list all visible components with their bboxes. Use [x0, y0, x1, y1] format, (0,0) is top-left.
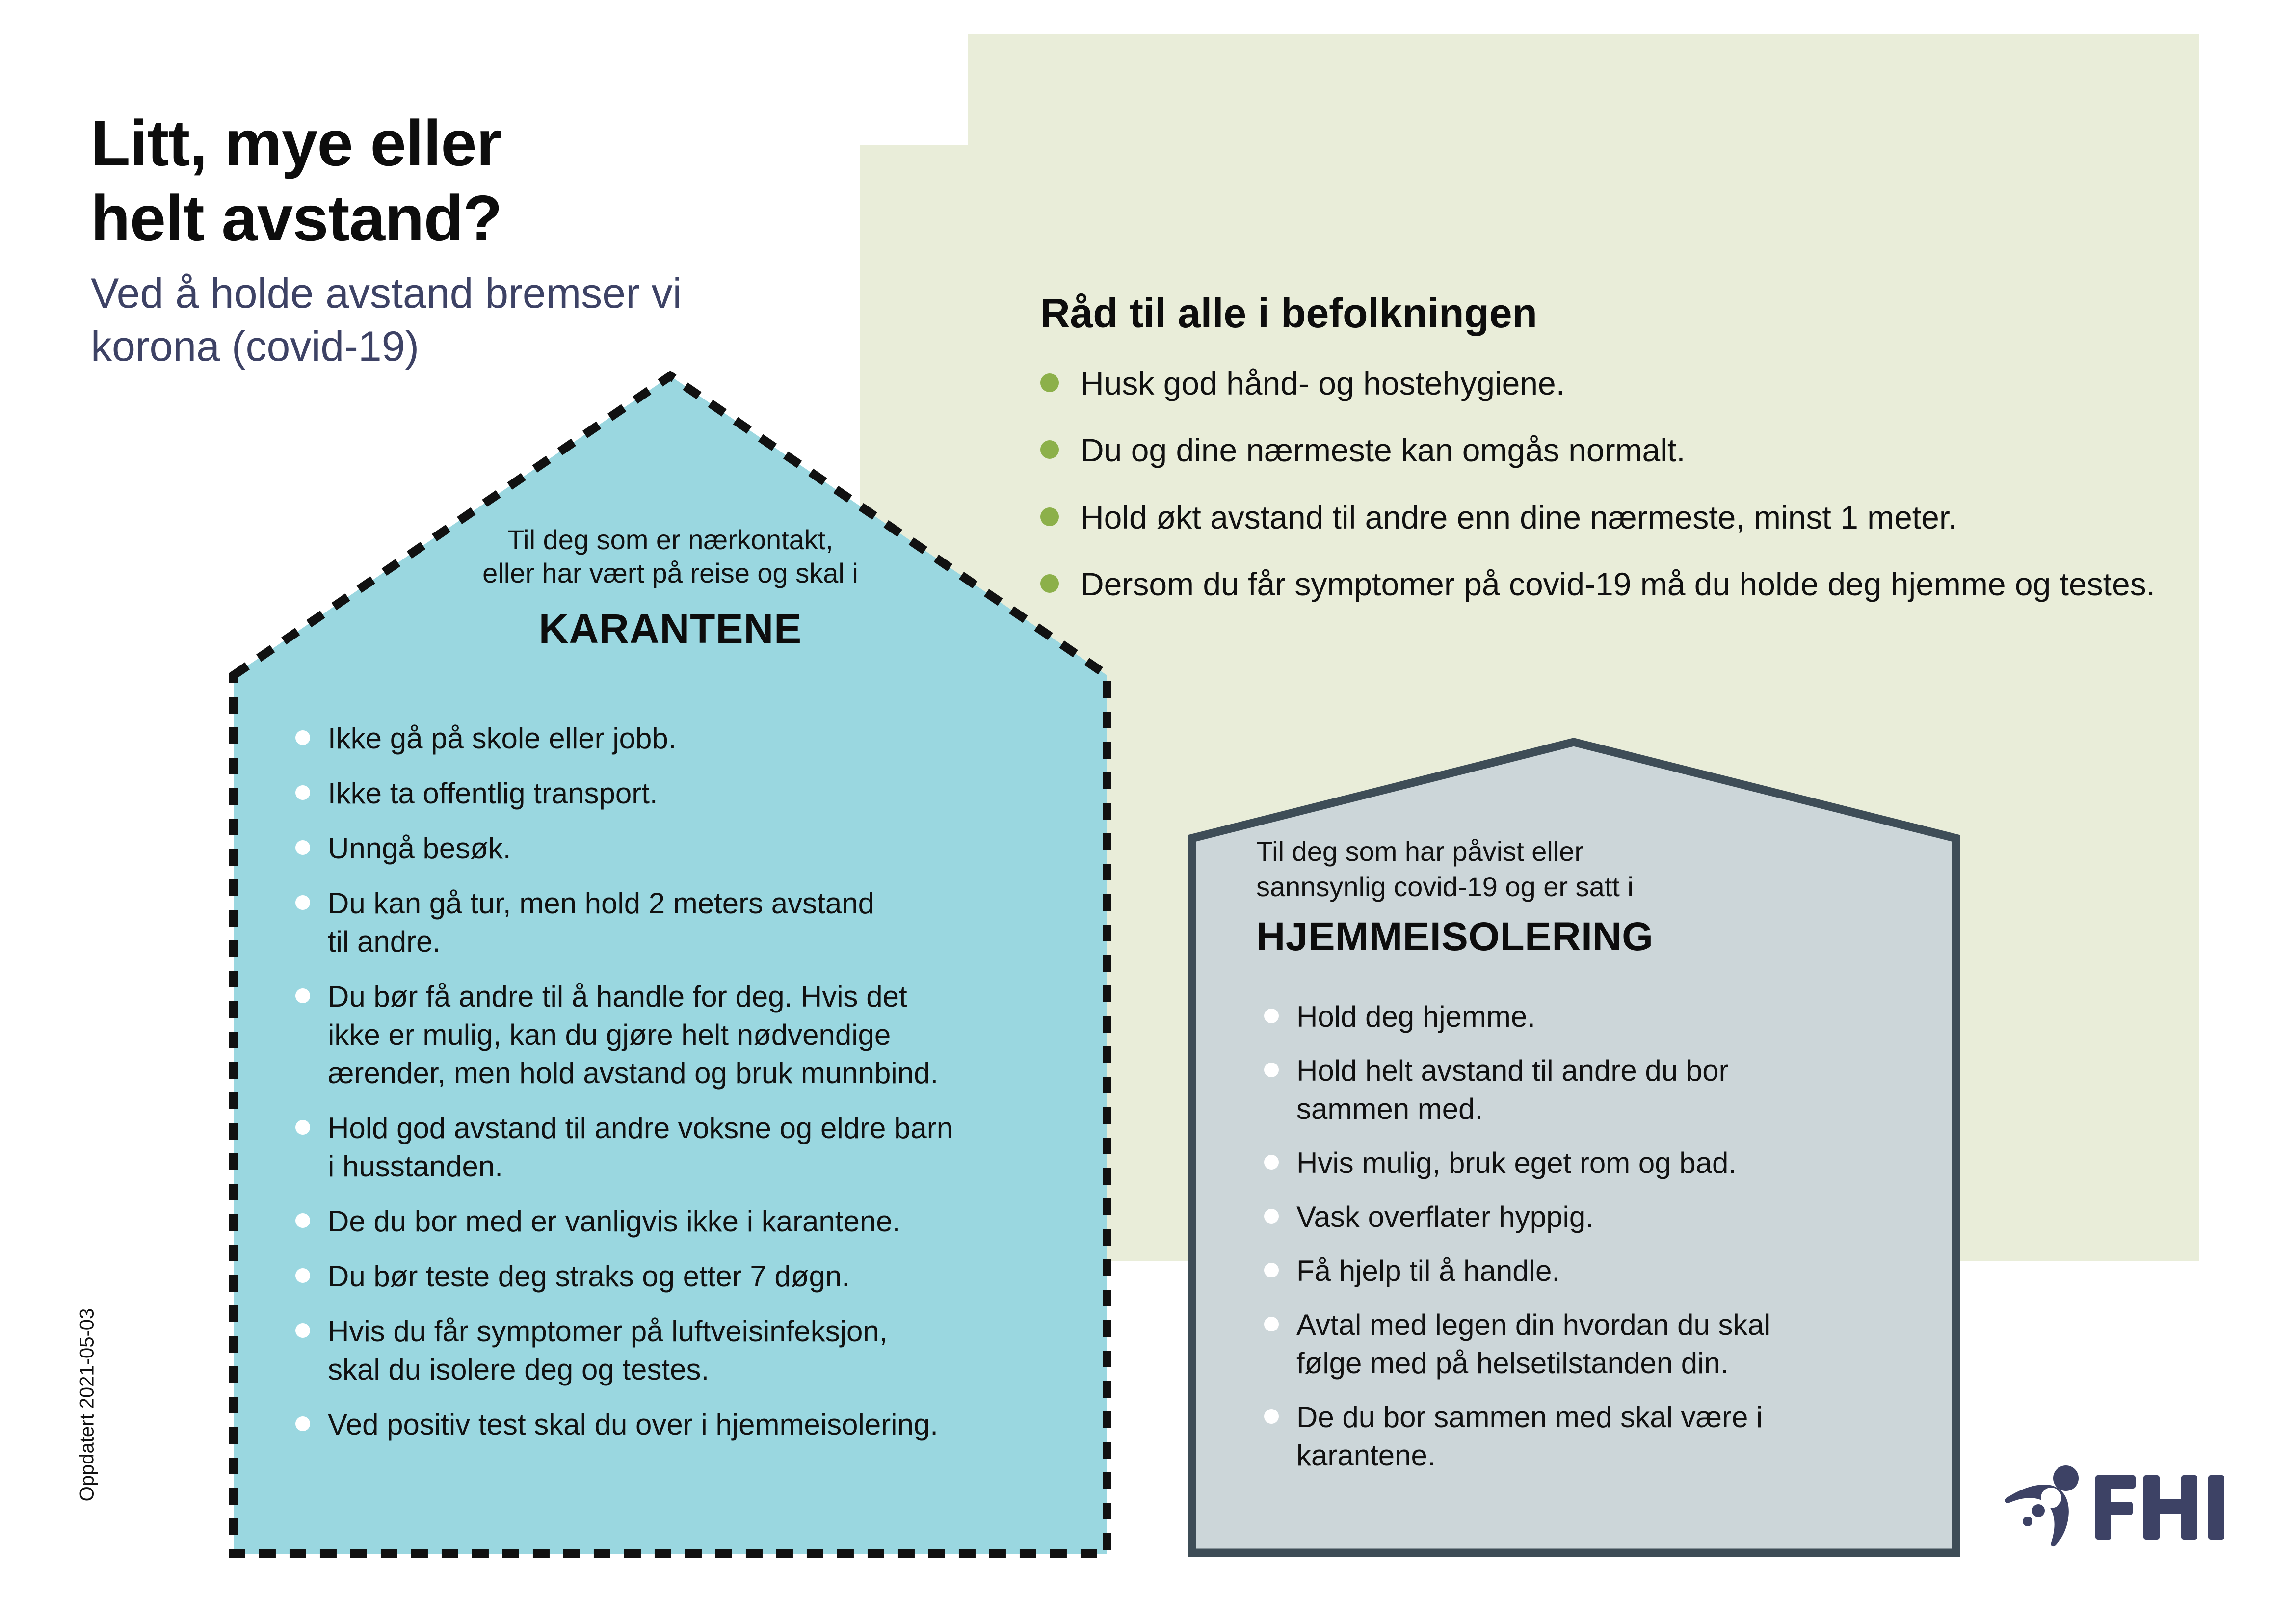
list-item: Hvis mulig, bruk eget rom og bad.: [1251, 1144, 1909, 1182]
fhi-logo: [2005, 1458, 2250, 1556]
quarantine-item-text: Du kan gå tur, men hold 2 meters avstand…: [328, 887, 874, 958]
page-subtitle: Ved å holde avstand bremser vi korona (c…: [91, 267, 827, 373]
quarantine-item-text: Hvis du får symptomer på luftveisinfeksj…: [328, 1315, 887, 1386]
list-item: Ikke gå på skole eller jobb.: [283, 719, 1078, 758]
list-item: Hold helt avstand til andre du bor samme…: [1251, 1052, 1909, 1128]
bullet-dot-icon: [295, 785, 310, 800]
quarantine-item-text: Ikke ta offentlig transport.: [328, 777, 658, 810]
fhi-wordmark: [2095, 1475, 2224, 1540]
quarantine-content: Til deg som er nærkontakt, eller har vær…: [229, 371, 1112, 1559]
quarantine-title: KARANTENE: [229, 605, 1112, 653]
updated-date-label: Oppdatert 2021-05-03: [77, 1248, 99, 1562]
isolation-title: HJEMMEISOLERING: [1256, 914, 1894, 960]
list-item: Unngå besøk.: [283, 829, 1078, 868]
quarantine-item-text: Unngå besøk.: [328, 832, 511, 865]
isolation-item-text: Vask overflater hyppig.: [1296, 1200, 1594, 1233]
bullet-dot-icon: [295, 988, 310, 1003]
list-item: Hvis du får symptomer på luftveisinfeksj…: [283, 1312, 1078, 1389]
advice-item-text: Du og dine nærmeste kan omgås normalt.: [1081, 432, 1686, 468]
isolation-item-text: Hold deg hjemme.: [1296, 1000, 1535, 1033]
quarantine-item-text: De du bor med er vanligvis ikke i karant…: [328, 1205, 900, 1238]
list-item: Du og dine nærmeste kan omgås normalt.: [1040, 429, 2184, 471]
quarantine-item-text: Ved positiv test skal du over i hjemmeis…: [328, 1408, 938, 1441]
list-item: Du kan gå tur, men hold 2 meters avstand…: [283, 884, 1078, 961]
list-item: Du bør få andre til å handle for deg. Hv…: [283, 978, 1078, 1092]
page-title: Litt, mye eller helt avstand?: [91, 106, 827, 256]
list-item: Husk god hånd- og hostehygiene.: [1040, 363, 2184, 404]
bullet-dot-icon: [1264, 1009, 1279, 1023]
bullet-dot-icon: [295, 730, 310, 745]
bullet-dot-icon: [1264, 1155, 1279, 1170]
list-item: Vask overflater hyppig.: [1251, 1198, 1909, 1236]
list-item: De du bor med er vanligvis ikke i karant…: [283, 1202, 1078, 1241]
isolation-item-text: De du bor sammen med skal være i karante…: [1296, 1401, 1763, 1472]
quarantine-header: Til deg som er nærkontakt, eller har vær…: [229, 523, 1112, 653]
bullet-dot-icon: [1264, 1409, 1279, 1424]
bullet-dot-icon: [295, 1120, 310, 1135]
quarantine-item-text: Du bør teste deg straks og etter 7 døgn.: [328, 1260, 850, 1293]
quarantine-item-text: Du bør få andre til å handle for deg. Hv…: [328, 980, 938, 1090]
isolation-item-text: Få hjelp til å handle.: [1296, 1254, 1560, 1287]
advice-item-text: Dersom du får symptomer på covid-19 må d…: [1081, 566, 2155, 602]
list-item: Du bør teste deg straks og etter 7 døgn.: [283, 1257, 1078, 1296]
fhi-figure-icon: [2005, 1465, 2079, 1546]
list-item: Hold god avstand til andre voksne og eld…: [283, 1109, 1078, 1186]
poster-header: Litt, mye eller helt avstand? Ved å hold…: [91, 106, 827, 373]
list-item: De du bor sammen med skal være i karante…: [1251, 1398, 1909, 1475]
bullet-dot-icon: [295, 1416, 310, 1431]
list-item: Hold deg hjemme.: [1251, 998, 1909, 1036]
advice-list: Husk god hånd- og hostehygiene. Du og di…: [1040, 363, 2184, 605]
list-item: Hold økt avstand til andre enn dine nærm…: [1040, 497, 2184, 538]
quarantine-house-card: Til deg som er nærkontakt, eller har vær…: [229, 371, 1112, 1559]
bullet-dot-icon: [1264, 1063, 1279, 1077]
bullet-dot-icon: [295, 1323, 310, 1338]
isolation-list: Hold deg hjemme. Hold helt avstand til a…: [1251, 998, 1909, 1490]
isolation-item-text: Avtal med legen din hvordan du skal følg…: [1296, 1308, 1770, 1380]
advice-item-text: Husk god hånd- og hostehygiene.: [1081, 365, 1565, 401]
list-item: Dersom du får symptomer på covid-19 må d…: [1040, 563, 2184, 605]
advice-item-text: Hold økt avstand til andre enn dine nærm…: [1081, 499, 1957, 535]
bullet-dot-icon: [295, 1213, 310, 1228]
isolation-item-text: Hvis mulig, bruk eget rom og bad.: [1296, 1146, 1737, 1179]
quarantine-lead: Til deg som er nærkontakt, eller har vær…: [229, 523, 1112, 590]
isolation-house-card: Til deg som har påvist eller sannsynlig …: [1188, 738, 1960, 1557]
list-item: Få hjelp til å handle.: [1251, 1252, 1909, 1290]
bullet-dot-icon: [1264, 1263, 1279, 1277]
advice-panel: Råd til alle i befolkningen Husk god hån…: [1040, 290, 2184, 631]
advice-heading: Råd til alle i befolkningen: [1040, 290, 2184, 337]
bullet-dot-icon: [1264, 1209, 1279, 1224]
bullet-dot-icon: [295, 1268, 310, 1283]
quarantine-list: Ikke gå på skole eller jobb. Ikke ta off…: [283, 719, 1078, 1461]
list-item: Avtal med legen din hvordan du skal følg…: [1251, 1306, 1909, 1383]
isolation-content: Til deg som har påvist eller sannsynlig …: [1188, 738, 1960, 1557]
quarantine-item-text: Ikke gå på skole eller jobb.: [328, 722, 676, 755]
poster-canvas: Litt, mye eller helt avstand? Ved å hold…: [0, 0, 2296, 1623]
list-item: Ikke ta offentlig transport.: [283, 774, 1078, 813]
isolation-header: Til deg som har påvist eller sannsynlig …: [1256, 834, 1894, 960]
quarantine-item-text: Hold god avstand til andre voksne og eld…: [328, 1112, 953, 1183]
bullet-dot-icon: [295, 840, 310, 855]
isolation-item-text: Hold helt avstand til andre du bor samme…: [1296, 1054, 1729, 1125]
bullet-dot-icon: [295, 895, 310, 910]
bullet-dot-icon: [1264, 1317, 1279, 1331]
isolation-lead: Til deg som har påvist eller sannsynlig …: [1256, 834, 1894, 904]
list-item: Ved positiv test skal du over i hjemmeis…: [283, 1406, 1078, 1444]
